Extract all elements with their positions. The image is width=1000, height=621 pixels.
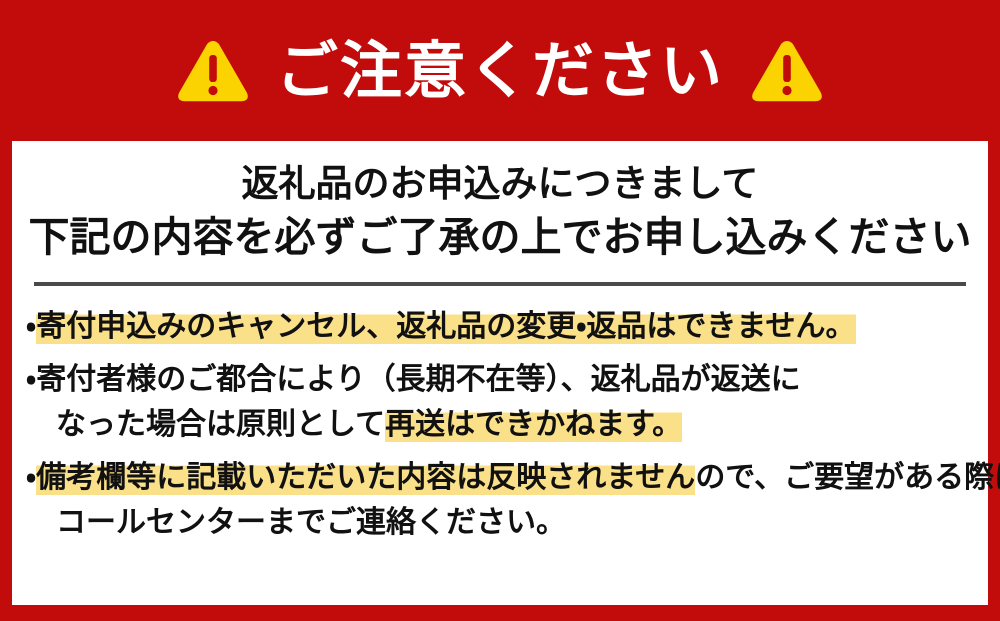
bullet-text: 寄付者様のご都合により（長期不在等）、返礼品が返送に [36, 362, 800, 397]
highlighted-text: 備考欄等に記載いただいた内容は反映されません [36, 460, 695, 495]
notice-bullet-list: ・寄付申込みのキャンセル、返礼品の変更・返品はできません。・寄付者様のご都合によ… [12, 286, 988, 545]
bullet-text: コールセンターまでご連絡ください。 [56, 505, 566, 540]
subtitle-block: 返礼品のお申込みにつきまして 下記の内容を必ずご了承の上でお申し込みください [12, 141, 988, 262]
highlighted-text: 寄付申込みのキャンセル、返礼品の変更・返品はできません。 [36, 309, 855, 344]
bullet-line: ・寄付申込みのキャンセル、返礼品の変更・返品はできません。 [26, 304, 974, 349]
bullet-line: コールセンターまでご連絡ください。 [26, 500, 974, 545]
warning-triangle-icon [750, 38, 824, 104]
notice-banner: ご注意ください 返礼品のお申込みにつきまして 下記の内容を必ずご了承の上でお申し… [0, 0, 1000, 621]
list-item: ・備考欄等に記載いただいた内容は反映されませんので、ご要望がある際はコールセンタ… [26, 455, 974, 545]
bullet-text: なった場合は原則として [56, 407, 385, 442]
bullet-text: ので、ご要望がある際は [695, 460, 1000, 495]
subtitle-line-1: 返礼品のお申込みにつきまして [12, 161, 988, 206]
notice-header: ご注意ください [0, 0, 1000, 141]
notice-content-panel: 返礼品のお申込みにつきまして 下記の内容を必ずご了承の上でお申し込みください ・… [12, 141, 988, 605]
list-item: ・寄付申込みのキャンセル、返礼品の変更・返品はできません。 [26, 304, 974, 349]
highlighted-text: 再送はできかねます。 [385, 407, 682, 442]
bullet-mark: ・ [26, 362, 36, 397]
page-title: ご注意ください [276, 40, 724, 102]
bullet-line: ・備考欄等に記載いただいた内容は反映されませんので、ご要望がある際は [26, 455, 974, 500]
warning-triangle-icon [176, 38, 250, 104]
bullet-line: ・寄付者様のご都合により（長期不在等）、返礼品が返送に [26, 357, 974, 402]
subtitle-line-2: 下記の内容を必ずご了承の上でお申し込みください [12, 212, 988, 262]
bullet-mark: ・ [26, 460, 36, 495]
list-item: ・寄付者様のご都合により（長期不在等）、返礼品が返送になった場合は原則として再送… [26, 357, 974, 447]
footer-band [0, 605, 1000, 621]
bullet-mark: ・ [26, 309, 36, 344]
bullet-line: なった場合は原則として再送はできかねます。 [26, 402, 974, 447]
